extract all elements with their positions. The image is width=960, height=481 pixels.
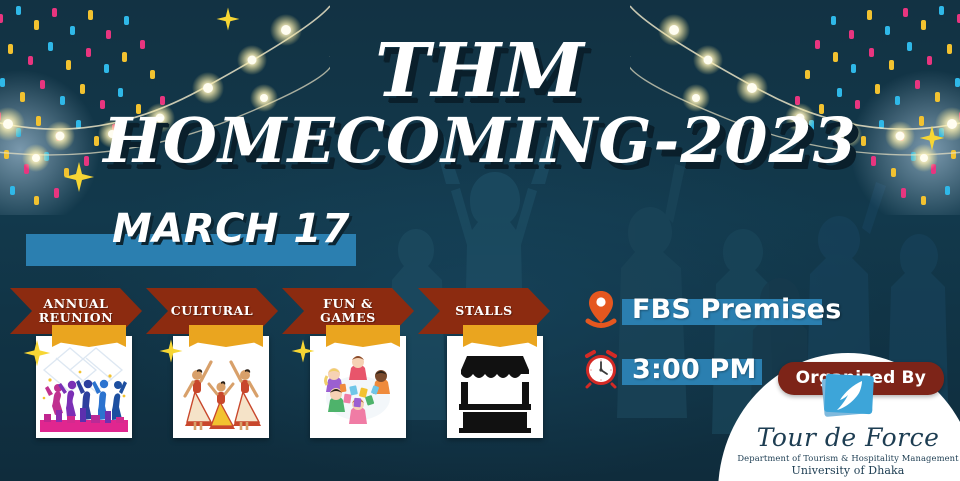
venue-text: FBS Premises xyxy=(622,294,842,325)
market-stall-illustration xyxy=(447,336,543,438)
card-stalls xyxy=(447,336,543,438)
date-text: MARCH 17 xyxy=(26,206,350,252)
title-line-2: HOMECOMING-2023 xyxy=(0,111,960,171)
organizer-logo: Tour de Force Department of Tourism & Ho… xyxy=(736,368,960,481)
logo-university: University of Dhaka xyxy=(736,464,960,477)
poster-title: THM HOMECOMING-2023 xyxy=(0,36,960,171)
card-annual-reunion xyxy=(36,336,132,438)
alarm-clock-icon xyxy=(580,348,622,390)
card-fun-games xyxy=(310,336,406,438)
event-date: MARCH 17 xyxy=(26,206,350,252)
children-games-illustration xyxy=(310,336,406,438)
location-pin-icon xyxy=(580,288,622,330)
logo-department: Department of Tourism & Hospitality Mana… xyxy=(736,453,960,463)
category-illustrations xyxy=(36,336,543,438)
reunion-illustration xyxy=(36,336,132,438)
venue-row: FBS Premises xyxy=(580,286,842,332)
title-line-1: THM xyxy=(0,36,960,107)
event-poster: THM HOMECOMING-2023 MARCH 17 ANNUAL REUN… xyxy=(0,0,960,481)
cultural-dance-illustration xyxy=(173,336,269,438)
card-cultural xyxy=(173,336,269,438)
logo-name: Tour de Force xyxy=(736,425,960,450)
swift-bird-logo-icon xyxy=(816,368,880,424)
